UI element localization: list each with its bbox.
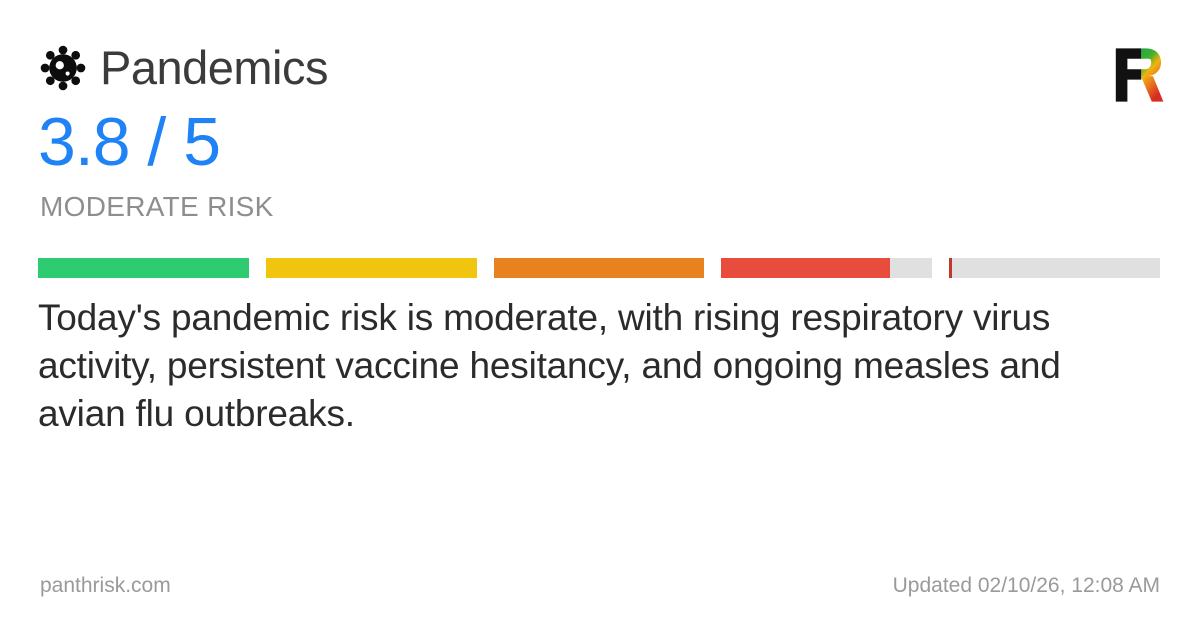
gauge-segment-2 [266, 258, 477, 278]
footer: panthrisk.com Updated 02/10/26, 12:08 AM [40, 574, 1160, 598]
risk-level-label: MODERATE RISK [40, 191, 274, 223]
updated-timestamp: Updated 02/10/26, 12:08 AM [893, 574, 1160, 598]
virus-icon [40, 45, 86, 91]
gauge-segment-1 [38, 258, 249, 278]
site-url[interactable]: panthrisk.com [40, 574, 171, 598]
gauge-segment-3 [494, 258, 705, 278]
header: Pandemics [40, 44, 328, 91]
gauge-segment-2-fill [266, 258, 477, 278]
gauge-segment-4-fill [721, 258, 890, 278]
gauge-segment-3-fill [494, 258, 705, 278]
risk-summary-text: Today's pandemic risk is moderate, with … [38, 294, 1138, 438]
gauge-segment-1-fill [38, 258, 249, 278]
risk-score: 3.8 / 5 [38, 108, 220, 177]
gauge-segment-5 [949, 258, 1160, 278]
page-title: Pandemics [100, 44, 328, 91]
risk-gauge [38, 258, 1160, 278]
risk-summary-card: Pandemics 3.8 / 5 MODERATE RISK [0, 0, 1200, 630]
gauge-segment-5-marker [949, 258, 952, 278]
gauge-segment-4 [721, 258, 932, 278]
